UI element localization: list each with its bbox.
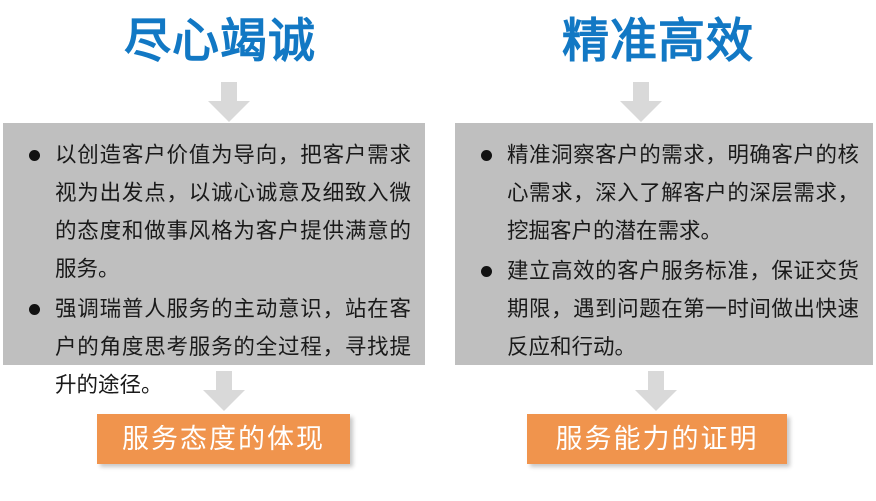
down-block-arrow-icon <box>635 371 677 411</box>
result-badge-right: 服务能力的证明 <box>527 414 787 464</box>
result-badge-left: 服务态度的体现 <box>97 414 350 464</box>
list-item: 精准洞察客户的需求，明确客户的核心需求，深入了解客户的深层需求，挖掘客户的潜在需… <box>469 136 859 250</box>
column-title-right: 精准高效 <box>440 10 876 72</box>
bullet-list-right: 精准洞察客户的需求，明确客户的核心需求，深入了解客户的深层需求，挖掘客户的潜在需… <box>469 136 859 366</box>
down-block-arrow-icon <box>208 82 250 122</box>
bullet-list-left: 以创造客户价值为导向，把客户需求视为出发点，以诚心诚意及细致入微的态度和做事风格… <box>17 136 411 404</box>
list-item: 以创造客户价值为导向，把客户需求视为出发点，以诚心诚意及细致入微的态度和做事风格… <box>17 136 411 288</box>
slide-canvas: 尽心竭诚 以创造客户价值为导向，把客户需求视为出发点，以诚心诚意及细致入微的态度… <box>0 0 876 501</box>
down-block-arrow-icon <box>203 371 245 411</box>
content-panel-left: 以创造客户价值为导向，把客户需求视为出发点，以诚心诚意及细致入微的态度和做事风格… <box>3 123 425 365</box>
down-block-arrow-icon <box>620 82 662 122</box>
content-panel-right: 精准洞察客户的需求，明确客户的核心需求，深入了解客户的深层需求，挖掘客户的潜在需… <box>455 123 873 365</box>
column-title-left: 尽心竭诚 <box>0 10 440 72</box>
list-item: 建立高效的客户服务标准，保证交货期限，遇到问题在第一时间做出快速反应和行动。 <box>469 252 859 366</box>
